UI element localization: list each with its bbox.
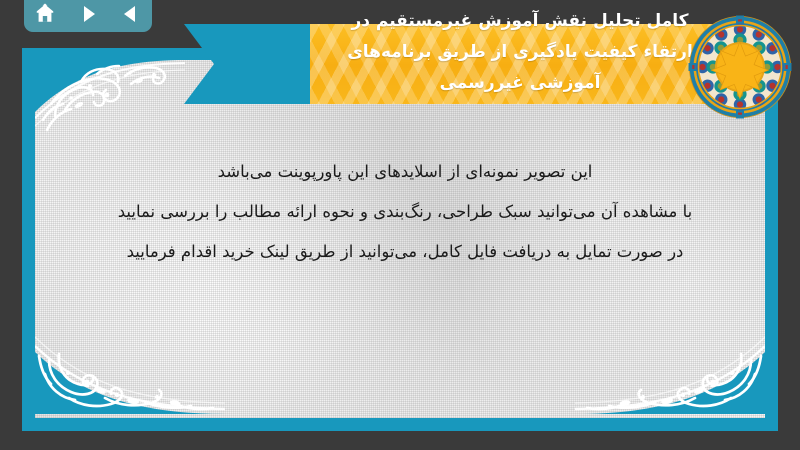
banner-accent-block bbox=[262, 24, 314, 104]
home-icon bbox=[34, 3, 56, 25]
arabesque-corner-icon bbox=[35, 294, 225, 418]
home-button[interactable] bbox=[30, 1, 60, 27]
slide-frame: این تصویر نمونه‌ای از اسلایدهای این پاور… bbox=[22, 48, 778, 431]
slide-canvas: این تصویر نمونه‌ای از اسلایدهای این پاور… bbox=[35, 60, 765, 418]
body-line: با مشاهده آن می‌توانید سبک طراحی، رنگ‌بن… bbox=[75, 192, 735, 232]
page-title: کامل تحلیل نقش آموزش غیرمستقیم در ارتقاء… bbox=[310, 6, 730, 99]
slide-body-text: این تصویر نمونه‌ای از اسلایدهای این پاور… bbox=[75, 152, 735, 272]
arabesque-corner-icon bbox=[575, 294, 765, 418]
banner-notch-shape bbox=[184, 24, 264, 104]
slide-viewer: این تصویر نمونه‌ای از اسلایدهای این پاور… bbox=[0, 0, 800, 450]
triangle-left-icon bbox=[121, 4, 141, 24]
triangle-right-icon bbox=[78, 4, 98, 24]
body-line: این تصویر نمونه‌ای از اسلایدهای این پاور… bbox=[75, 152, 735, 192]
forward-button[interactable] bbox=[73, 1, 103, 27]
navigation-bar bbox=[24, 0, 152, 32]
title-banner: کامل تحلیل نقش آموزش غیرمستقیم در ارتقاء… bbox=[262, 24, 740, 104]
body-line: در صورت تمایل به دریافت فایل کامل، می‌تو… bbox=[75, 232, 735, 272]
islamic-medallion-icon bbox=[687, 14, 793, 120]
back-button[interactable] bbox=[116, 1, 146, 27]
